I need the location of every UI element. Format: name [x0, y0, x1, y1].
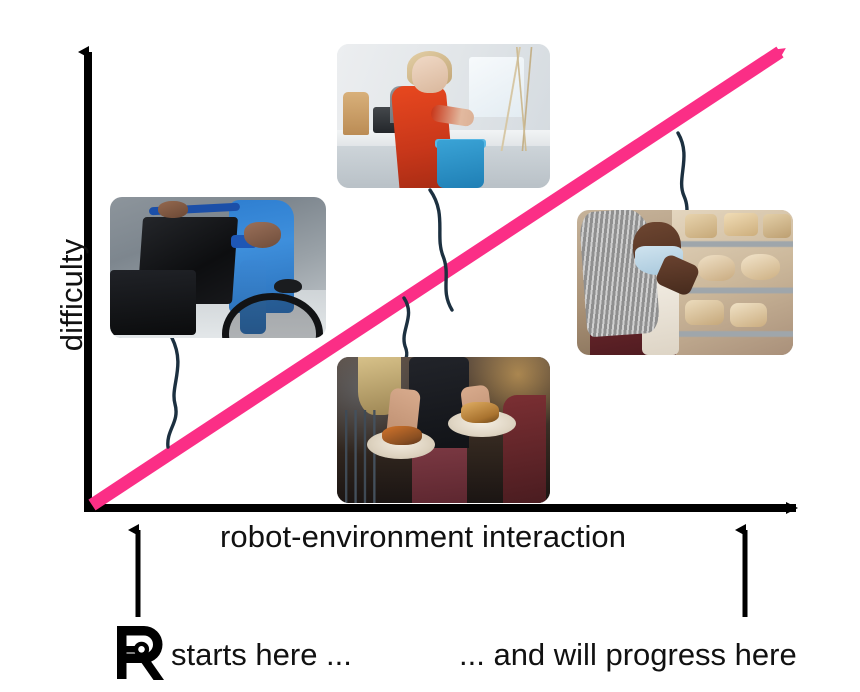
- starts-here-caption: starts here ...: [171, 637, 352, 673]
- diagram-canvas: difficulty robot-environment interaction…: [0, 0, 860, 692]
- x-axis-label: robot-environment interaction: [220, 519, 626, 555]
- progress-here-caption: ... and will progress here: [459, 637, 797, 673]
- pointer-graphics: [0, 0, 860, 692]
- robot-r-logo-icon: [114, 622, 172, 682]
- y-axis-label: difficulty: [54, 195, 90, 395]
